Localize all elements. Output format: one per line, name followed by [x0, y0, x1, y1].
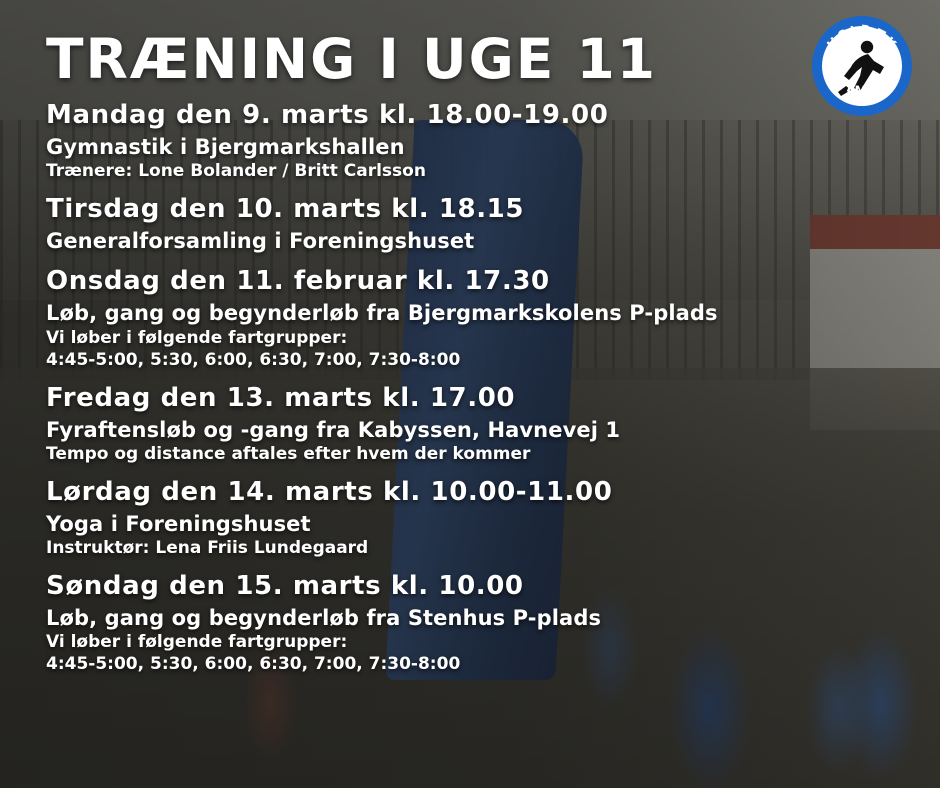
training-week-poster: TRÆNING I UGE 11 Mandag den 9. marts kl.… — [0, 0, 940, 788]
day-heading: Tirsdag den 10. marts kl. 18.15 — [46, 195, 910, 225]
day-activity: Løb, gang og begynderløb fra Stenhus P-p… — [46, 605, 910, 631]
day-pace-groups: 4:45-5:00, 5:30, 6:00, 6:30, 7:00, 7:30-… — [46, 349, 910, 371]
day-activity: Fyraftensløb og -gang fra Kabyssen, Havn… — [46, 417, 910, 443]
day-heading: Onsdag den 11. februar kl. 17.30 — [46, 267, 910, 297]
day-detail: Tempo og distance aftales efter hvem der… — [46, 443, 910, 465]
day-entry-sunday: Søndag den 15. marts kl. 10.00 Løb, gang… — [46, 572, 910, 675]
day-entry-saturday: Lørdag den 14. marts kl. 10.00-11.00 Yog… — [46, 478, 910, 559]
day-entry-monday: Mandag den 9. marts kl. 18.00-19.00 Gymn… — [46, 101, 910, 182]
day-activity: Yoga i Foreningshuset — [46, 511, 910, 537]
day-pace-groups: 4:45-5:00, 5:30, 6:00, 6:30, 7:00, 7:30-… — [46, 653, 910, 675]
day-activity: Løb, gang og begynderløb fra Bjergmarksk… — [46, 300, 910, 326]
day-activity: Gymnastik i Bjergmarkshallen — [46, 134, 910, 160]
day-detail: Instruktør: Lena Friis Lundegaard — [46, 537, 910, 559]
page-title: TRÆNING I UGE 11 — [46, 32, 910, 87]
day-heading: Fredag den 13. marts kl. 17.00 — [46, 384, 910, 414]
club-logo: HOLBÆK LMK — [810, 14, 914, 118]
day-activity: Generalforsamling i Foreningshuset — [46, 228, 910, 254]
day-heading: Lørdag den 14. marts kl. 10.00-11.00 — [46, 478, 910, 508]
day-heading: Søndag den 15. marts kl. 10.00 — [46, 572, 910, 602]
day-detail: Trænere: Lone Bolander / Britt Carlsson — [46, 160, 910, 182]
day-entry-friday: Fredag den 13. marts kl. 17.00 Fyraftens… — [46, 384, 910, 465]
poster-content: TRÆNING I UGE 11 Mandag den 9. marts kl.… — [0, 0, 940, 788]
day-entry-wednesday: Onsdag den 11. februar kl. 17.30 Løb, ga… — [46, 267, 910, 370]
day-detail: Vi løber i følgende fartgrupper: — [46, 631, 910, 653]
day-entry-tuesday: Tirsdag den 10. marts kl. 18.15 Generalf… — [46, 195, 910, 254]
day-heading: Mandag den 9. marts kl. 18.00-19.00 — [46, 101, 910, 131]
day-detail: Vi løber i følgende fartgrupper: — [46, 327, 910, 349]
